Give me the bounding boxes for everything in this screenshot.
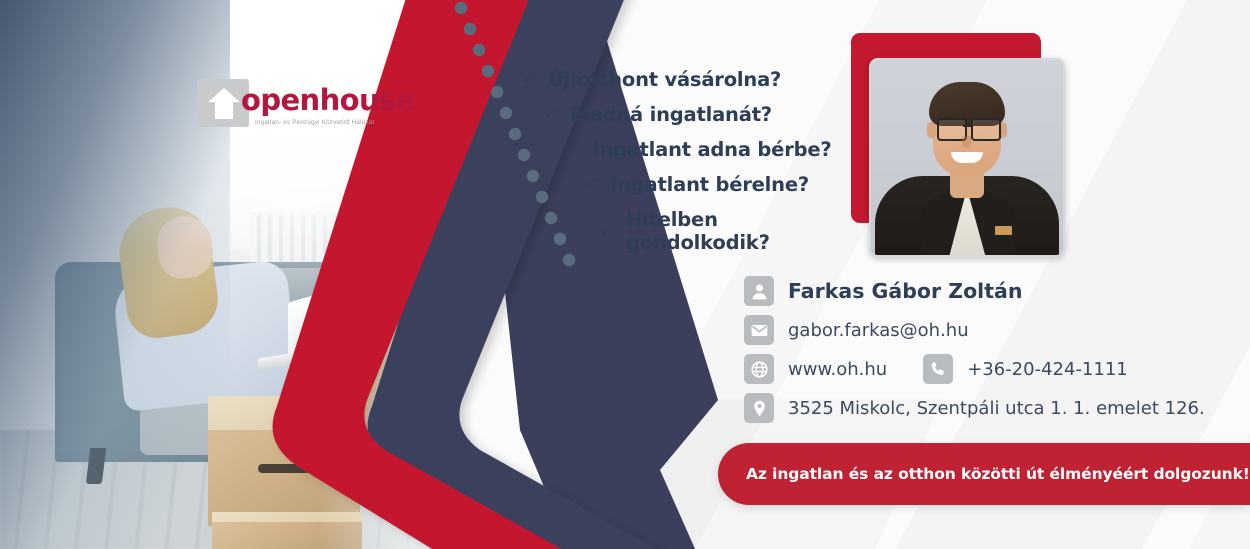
question-item: ✓ Új otthont vásárolna? [500, 68, 860, 91]
question-item: ✓ Hitelben gondolkodik? [500, 208, 860, 254]
glasses-right-lens [971, 118, 1001, 141]
person-icon [744, 276, 774, 306]
agent-website[interactable]: www.oh.hu [788, 359, 887, 380]
house-icon [207, 86, 241, 120]
agent-address: 3525 Miskolc, Szentpáli utca 1. 1. emele… [788, 398, 1205, 419]
portrait-ear-left [927, 122, 936, 138]
contact-row-web-phone: www.oh.hu +36-20-424-1111 [744, 354, 1214, 384]
question-item: ✓ Ingatlant adna bérbe? [500, 138, 860, 161]
question-item: ✓ Eladná ingatlanát? [500, 103, 860, 126]
check-icon: ✓ [544, 106, 558, 123]
agent-phone[interactable]: +36-20-424-1111 [967, 359, 1128, 380]
logo-wordmark: openhouse [241, 83, 415, 117]
portrait-photo [869, 58, 1065, 257]
portrait-nose [962, 136, 971, 148]
glasses-bridge [963, 125, 971, 127]
agent-name: Farkas Gábor Zoltán [788, 279, 1022, 303]
question-label: Ingatlant adna bérbe? [592, 138, 831, 161]
envelope-icon [744, 315, 774, 345]
portrait-name-badge [995, 226, 1012, 235]
agent-portrait [851, 33, 1061, 255]
phone-group: +36-20-424-1111 [923, 354, 1128, 384]
question-label: Ingatlant bérelne? [610, 173, 809, 196]
globe-icon [744, 354, 774, 384]
slogan-banner: Az ingatlan és az otthon közötti út élmé… [718, 443, 1250, 505]
website-group: www.oh.hu [744, 354, 887, 384]
agent-email[interactable]: gabor.farkas@oh.hu [788, 320, 969, 341]
map-pin-icon [744, 393, 774, 423]
contact-row-address: 3525 Miskolc, Szentpáli utca 1. 1. emele… [744, 393, 1214, 423]
logo-tagline: Ingatlan- és Pénzügyi Közvetítő Hálózat [255, 119, 374, 126]
check-icon: ✓ [522, 71, 536, 88]
check-icon: ✓ [584, 176, 598, 193]
phone-icon [923, 354, 953, 384]
question-label: Eladná ingatlanát? [570, 103, 772, 126]
openhouse-agent-banner: openhouse Ingatlan- és Pénzügyi Közvetít… [0, 0, 1250, 549]
contact-block: Farkas Gábor Zoltán gabor.farkas@oh.hu w… [744, 276, 1214, 432]
question-list: ✓ Új otthont vásárolna? ✓ Eladná ingatla… [500, 68, 860, 266]
contact-row-name: Farkas Gábor Zoltán [744, 276, 1214, 306]
contact-row-email: gabor.farkas@oh.hu [744, 315, 1214, 345]
check-icon: ✓ [566, 141, 580, 158]
openhouse-logo[interactable]: openhouse Ingatlan- és Pénzügyi Közvetít… [197, 79, 377, 139]
question-label: Új otthont vásárolna? [548, 68, 781, 91]
check-icon: ✓ [600, 223, 614, 240]
slogan-text: Az ingatlan és az otthon közötti út élmé… [746, 465, 1250, 483]
question-item: ✓ Ingatlant bérelne? [500, 173, 860, 196]
question-label: Hitelben gondolkodik? [626, 208, 860, 254]
